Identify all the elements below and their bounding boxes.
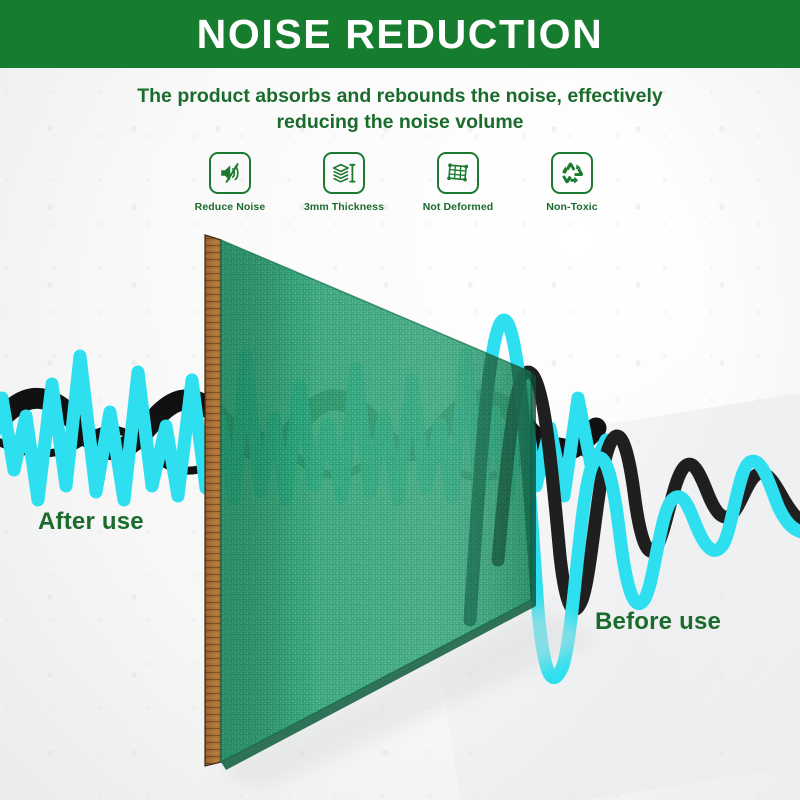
- panel-right-edge: [531, 372, 536, 606]
- noise-reduction-infographic: NOISE REDUCTION The product absorbs and …: [0, 0, 800, 800]
- acoustic-panel: [205, 235, 600, 790]
- label-after-use: After use: [38, 508, 144, 536]
- artwork-stage: After use Before use: [0, 0, 800, 800]
- panel-wood-edge: [205, 235, 221, 766]
- label-before-use: Before use: [595, 608, 721, 636]
